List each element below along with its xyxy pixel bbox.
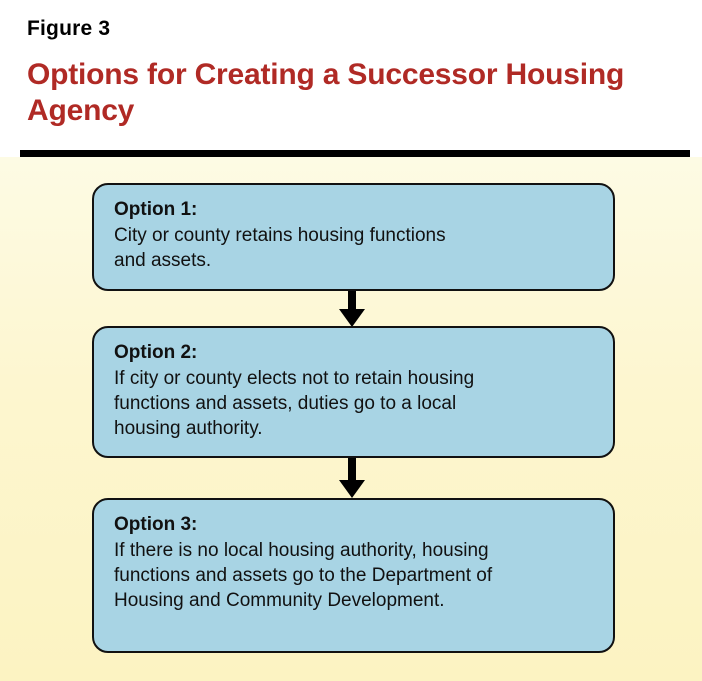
flow-node-title: Option 3: bbox=[114, 512, 597, 537]
flow-node-title: Option 1: bbox=[114, 197, 597, 222]
figure-title: Options for Creating a Successor Housing… bbox=[27, 57, 667, 129]
arrow-head bbox=[339, 480, 365, 498]
down-arrow-icon bbox=[339, 291, 365, 327]
flow-node-option-3: Option 3: If there is no local housing a… bbox=[92, 498, 615, 653]
arrow-shaft bbox=[348, 458, 356, 481]
figure-label: Figure 3 bbox=[27, 17, 110, 41]
down-arrow-icon bbox=[339, 458, 365, 499]
arrow-head bbox=[339, 309, 365, 327]
figure-container: Figure 3 Options for Creating a Successo… bbox=[0, 0, 702, 681]
figure-header: Figure 3 Options for Creating a Successo… bbox=[0, 0, 702, 158]
arrow-shaft bbox=[348, 291, 356, 310]
header-divider bbox=[20, 150, 690, 157]
flow-node-option-2: Option 2: If city or county elects not t… bbox=[92, 326, 615, 458]
flow-node-text: If there is no local housing authority, … bbox=[114, 538, 597, 613]
flow-node-option-1: Option 1: City or county retains housing… bbox=[92, 183, 615, 291]
flow-node-text: If city or county elects not to retain h… bbox=[114, 366, 597, 441]
diagram-panel: Option 1: City or county retains housing… bbox=[0, 157, 702, 681]
flow-node-text: City or county retains housing functions… bbox=[114, 223, 597, 273]
flow-node-title: Option 2: bbox=[114, 340, 597, 365]
